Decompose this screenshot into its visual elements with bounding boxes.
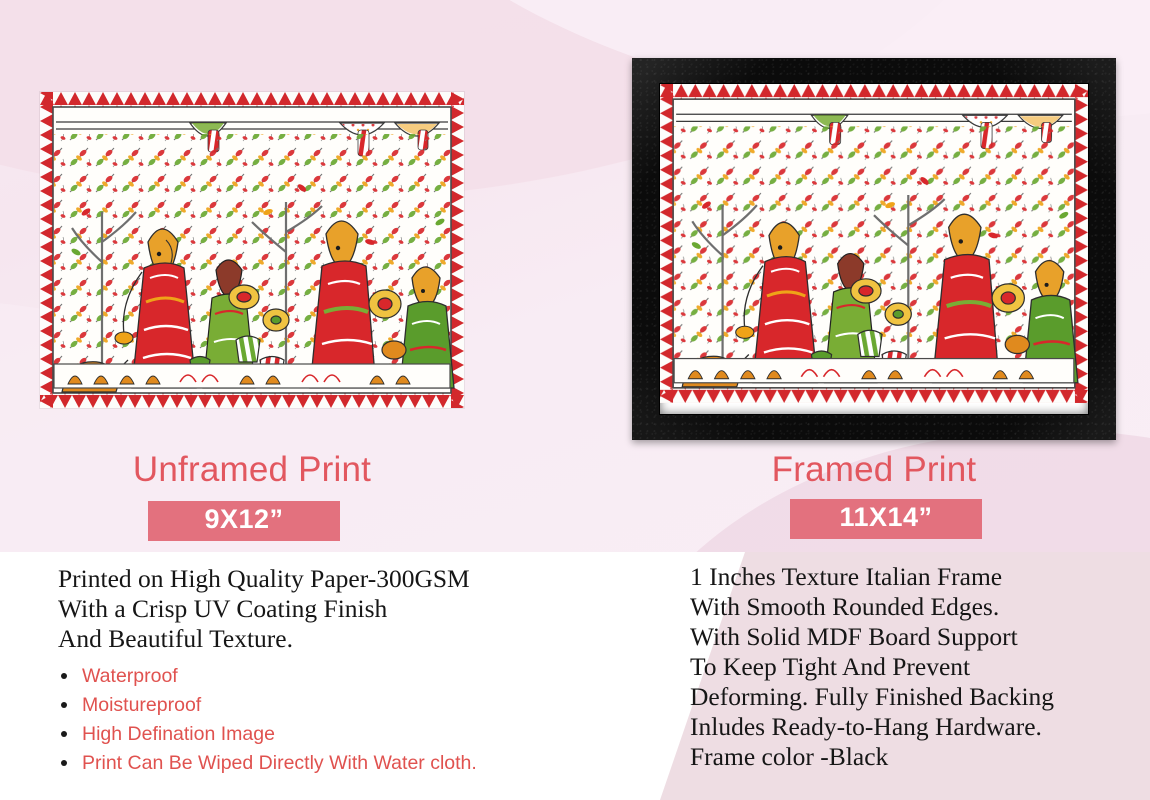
unframed-feature-list: Waterproof Moistureproof High Defination… bbox=[58, 662, 618, 778]
list-item: High Defination Image bbox=[58, 720, 618, 749]
detail-line: With Solid MDF Board Support bbox=[690, 622, 1130, 652]
unframed-size-badge: 9X12” bbox=[148, 501, 340, 541]
detail-line: Frame color -Black bbox=[690, 742, 1130, 772]
bullet-dot-icon bbox=[61, 760, 67, 766]
detail-line: Deforming. Fully Finished Backing bbox=[690, 682, 1130, 712]
bullet-dot-icon bbox=[61, 702, 67, 708]
detail-line: With a Crisp UV Coating Finish bbox=[58, 594, 618, 624]
detail-line: And Beautiful Texture. bbox=[58, 624, 618, 654]
detail-line: Printed on High Quality Paper-300GSM bbox=[58, 564, 618, 594]
list-item-label: Print Can Be Wiped Directly With Water c… bbox=[82, 752, 477, 774]
list-item: Print Can Be Wiped Directly With Water c… bbox=[58, 749, 618, 778]
madhubani-artwork-unframed bbox=[40, 92, 464, 408]
unframed-print-image bbox=[40, 92, 464, 408]
framed-details-column: 1 Inches Texture Italian Frame With Smoo… bbox=[690, 562, 1130, 772]
framed-print-frame bbox=[632, 58, 1116, 440]
bullet-dot-icon bbox=[61, 731, 67, 737]
bullet-dot-icon bbox=[61, 673, 67, 679]
detail-line: Inludes Ready-to-Hang Hardware. bbox=[690, 712, 1130, 742]
unframed-print-title: Unframed Print bbox=[40, 450, 464, 490]
madhubani-artwork-framed bbox=[660, 84, 1088, 403]
framed-print-image bbox=[660, 84, 1088, 414]
detail-line: With Smooth Rounded Edges. bbox=[690, 592, 1130, 622]
promo-banner: Unframed Print 9X12” Framed Print 11X14”… bbox=[0, 0, 1150, 800]
info-panel: Printed on High Quality Paper-300GSM Wit… bbox=[0, 552, 1150, 800]
detail-line: To Keep Tight And Prevent bbox=[690, 652, 1130, 682]
list-item-label: Moistureproof bbox=[82, 694, 201, 716]
list-item: Moistureproof bbox=[58, 691, 618, 720]
framed-size-badge: 11X14” bbox=[790, 499, 982, 539]
framed-print-title: Framed Print bbox=[632, 450, 1116, 490]
list-item: Waterproof bbox=[58, 662, 618, 691]
list-item-label: Waterproof bbox=[82, 665, 178, 687]
detail-line: 1 Inches Texture Italian Frame bbox=[690, 562, 1130, 592]
unframed-details-column: Printed on High Quality Paper-300GSM Wit… bbox=[58, 564, 618, 778]
showcase-panel: Unframed Print 9X12” Framed Print 11X14” bbox=[0, 0, 1150, 552]
list-item-label: High Defination Image bbox=[82, 723, 275, 745]
